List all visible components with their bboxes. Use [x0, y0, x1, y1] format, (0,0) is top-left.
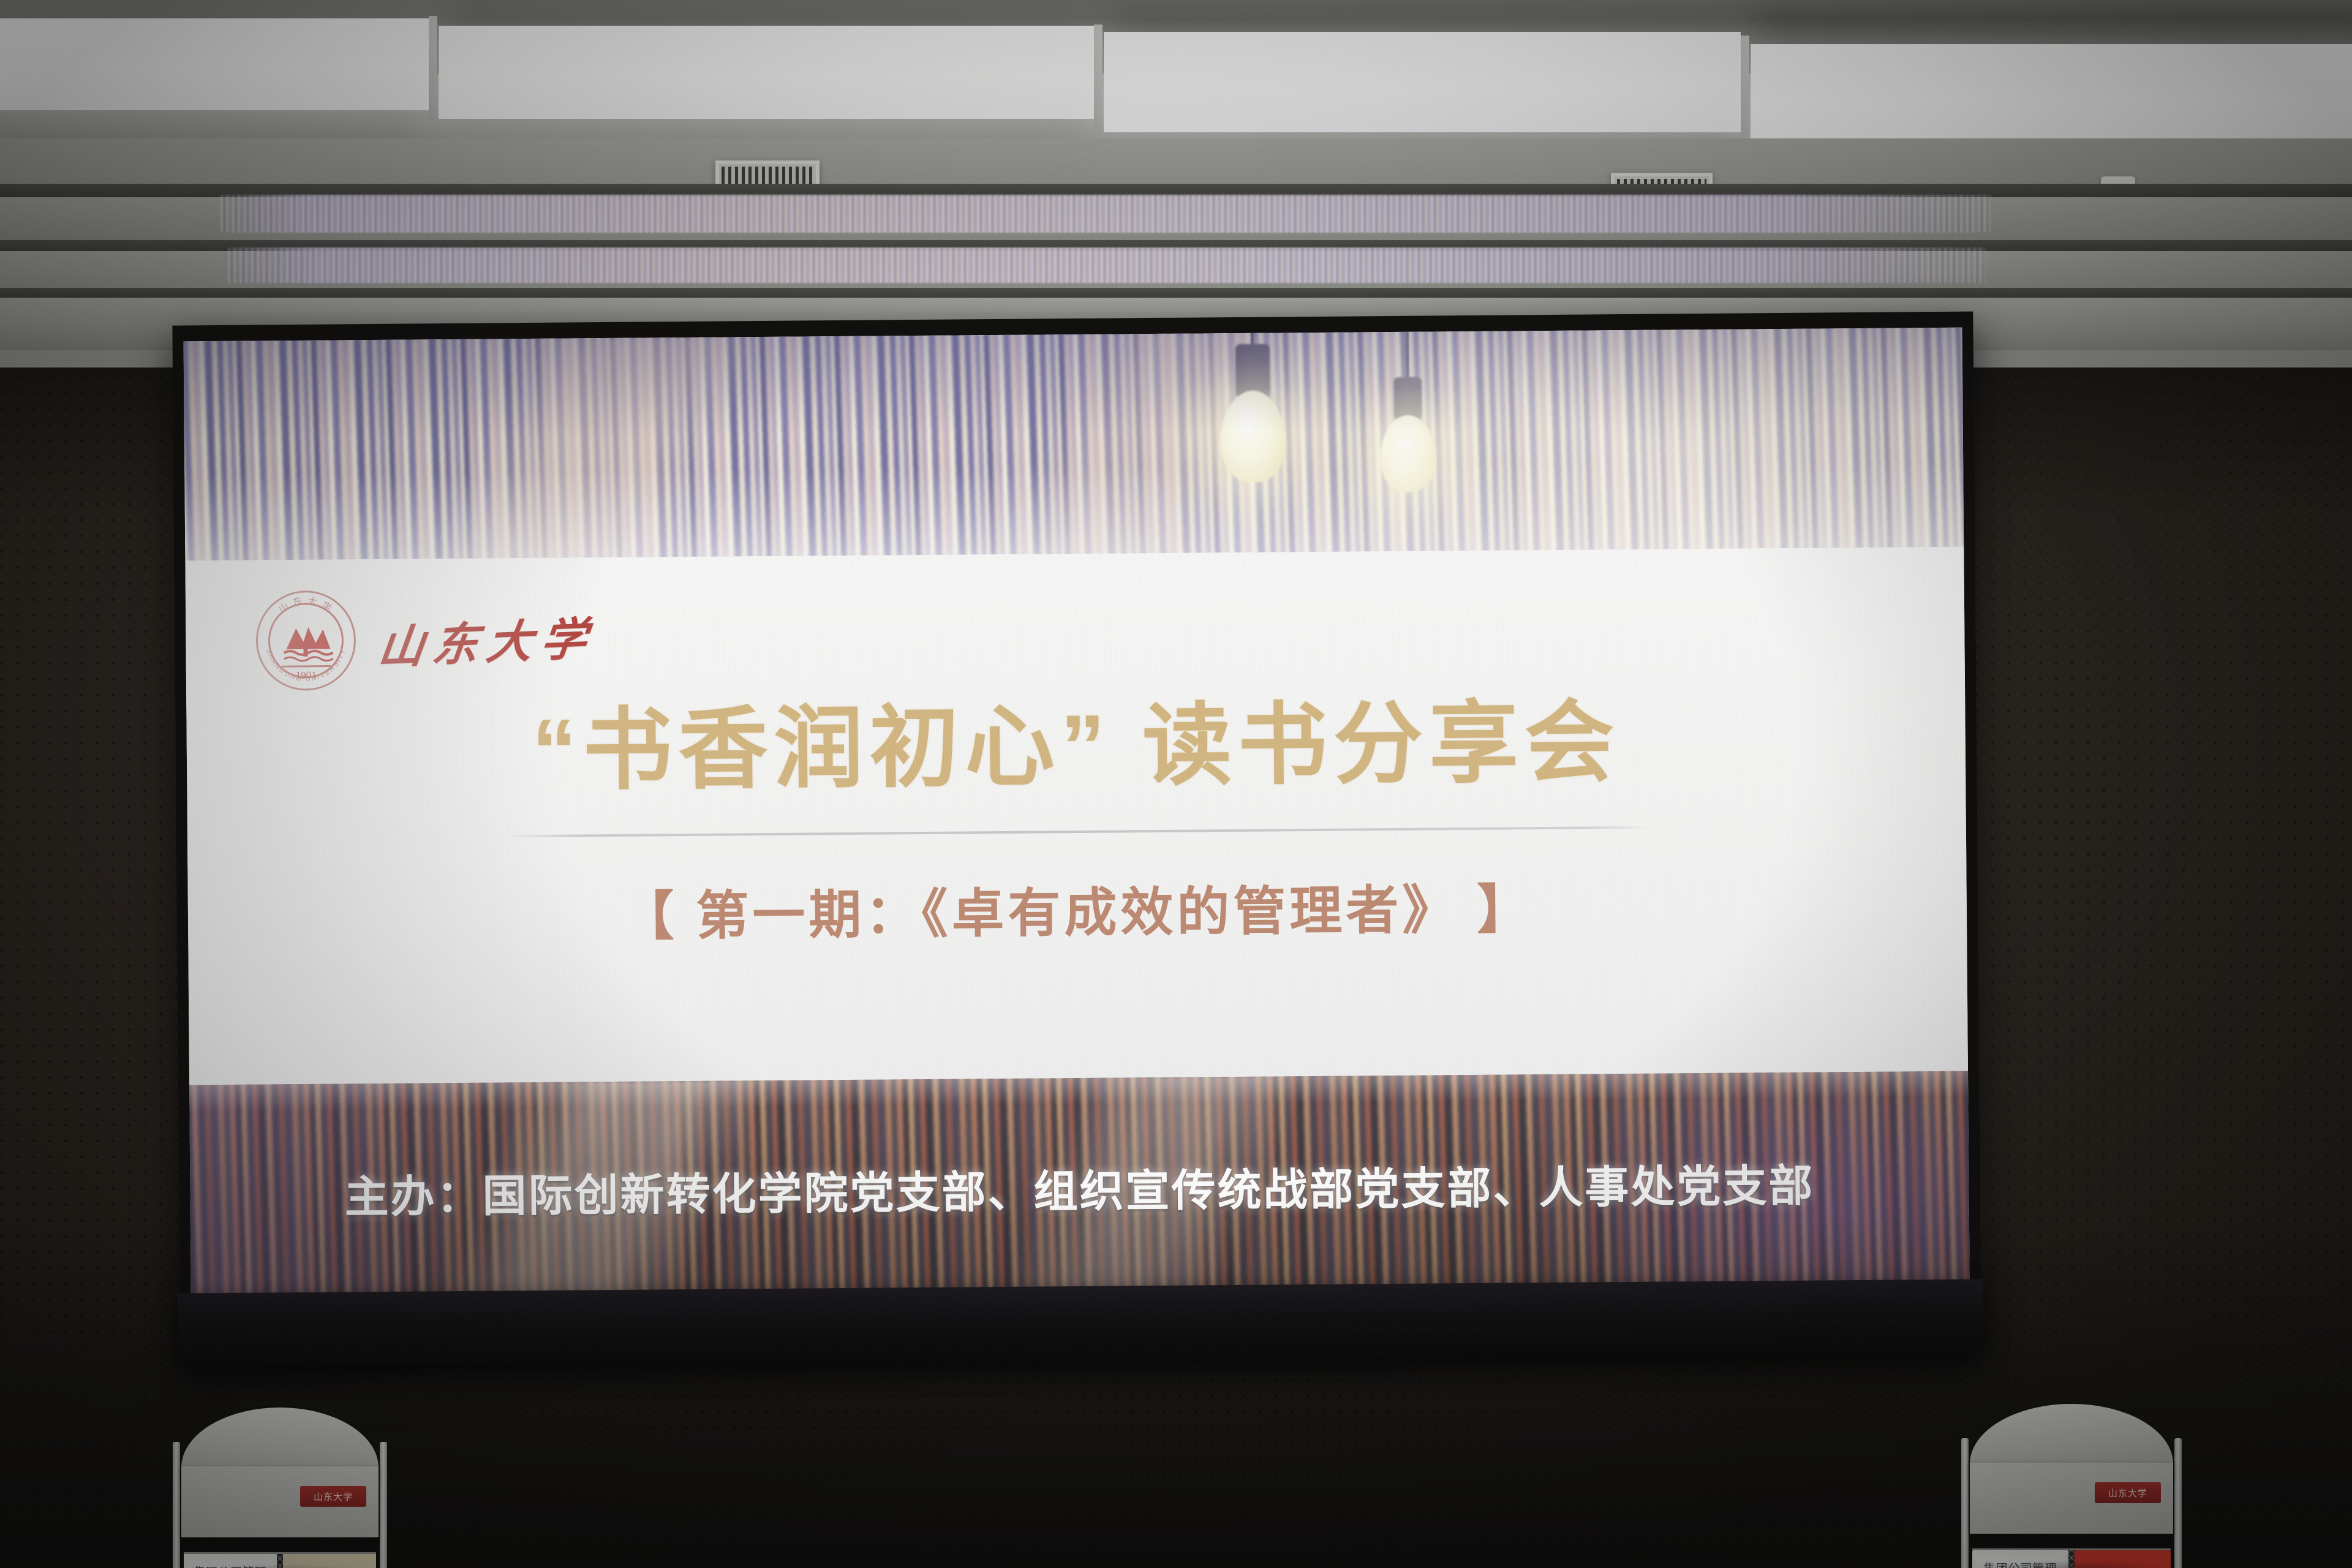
light-panel-divider — [429, 16, 437, 120]
brochure-rack-right[interactable]: 山东大学 集团公司管理 企业医院 — [1961, 1404, 2182, 1568]
conference-room-scene: 1901 山 东 大 学 SHANDONG UNIVERSITY — [0, 0, 2352, 1568]
slide-canvas: 1901 山 东 大 学 SHANDONG UNIVERSITY — [184, 328, 1970, 1295]
slide-subtitle: 【 第一期：《卓有成效的管理者》 】 — [188, 878, 1967, 949]
photo-light-wash — [184, 328, 1964, 562]
brochure-rack-left[interactable]: 山东大学 集团公司管理 企业管理 学习资料 — [173, 1408, 387, 1568]
ceiling-light-panel — [1104, 32, 1741, 132]
slide-content-band: 1901 山 东 大 学 SHANDONG UNIVERSITY — [185, 547, 1968, 1088]
rack-post — [2174, 1438, 2182, 1568]
light-panel-divider — [1094, 24, 1102, 129]
rack-post — [173, 1442, 180, 1568]
rack-post — [1961, 1438, 1969, 1568]
rack-brand-tag: 山东大学 — [300, 1486, 366, 1507]
svg-text:山 东 大 学: 山 东 大 学 — [277, 595, 334, 614]
university-logo-lockup: 1901 山 东 大 学 SHANDONG UNIVERSITY — [254, 587, 595, 692]
shandong-university-seal-icon: 1901 山 东 大 学 SHANDONG UNIVERSITY — [254, 589, 358, 692]
projection-screen: 1901 山 东 大 学 SHANDONG UNIVERSITY — [172, 311, 1981, 1366]
ceiling-beam-shadow — [0, 288, 2352, 298]
university-wordmark: 山东大学 — [375, 602, 599, 677]
ceiling-light-panel — [0, 18, 429, 110]
ceiling-light-panel — [1751, 44, 2352, 148]
rack-post — [380, 1442, 387, 1568]
rack-shadow — [1949, 1561, 2194, 1568]
ceiling-light-panel — [439, 26, 1094, 119]
slide-bottom-photo-band: 主办：国际创新转化学院党支部、组织宣传统战部党支部、人事处党支部 — [189, 1071, 1970, 1295]
light-panel-divider — [1741, 36, 1749, 140]
projector-light-spill — [228, 247, 1986, 283]
screen-weight-bar — [178, 1279, 1984, 1366]
title-divider — [506, 826, 1651, 838]
rack-brand-tag: 山东大学 — [2095, 1482, 2161, 1503]
projected-slide: 1901 山 东 大 学 SHANDONG UNIVERSITY — [184, 328, 1970, 1295]
slide-title: “书香润初心” 读书分享会 — [186, 693, 1966, 801]
projector-light-spill — [221, 195, 1991, 233]
rack-shadow — [160, 1564, 399, 1568]
slide-top-photo-band — [184, 328, 1964, 562]
